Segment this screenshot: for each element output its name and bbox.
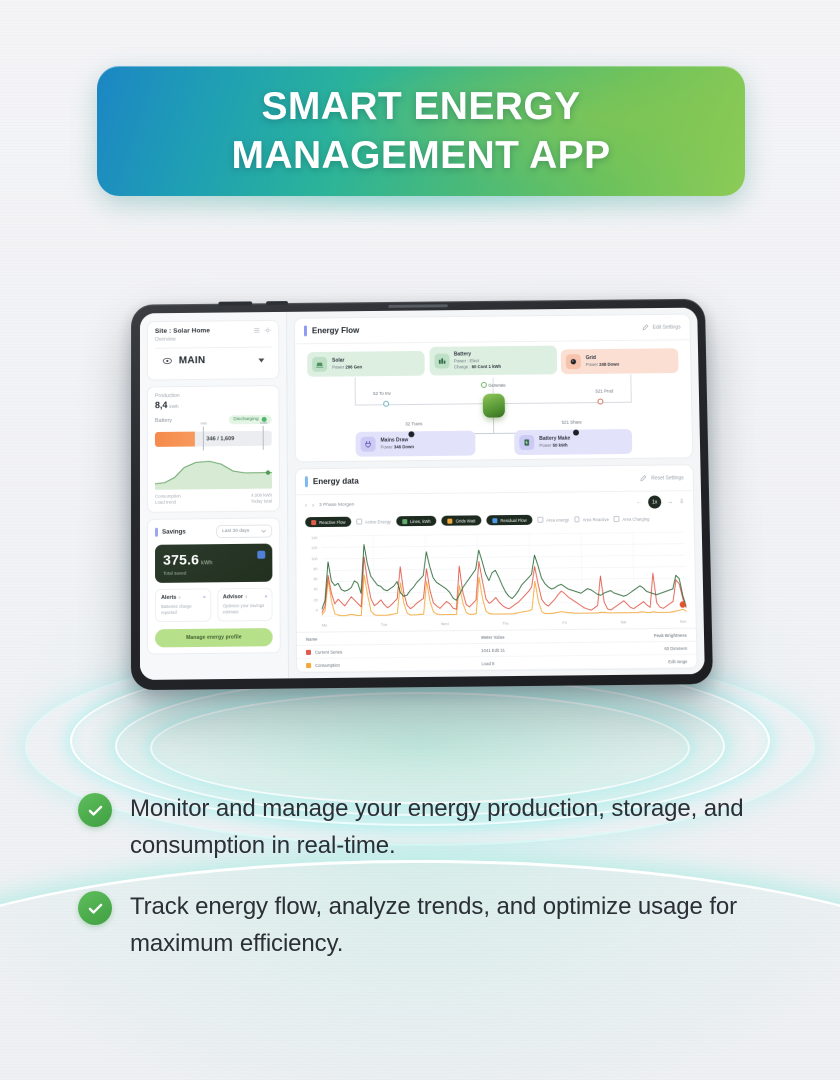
- legend-row-extra: 60 Dimmers: [611, 645, 687, 651]
- advisor-title: Advisor: [223, 594, 243, 600]
- edge-dot-right-icon: [597, 399, 603, 405]
- chip-swatch-icon: [448, 518, 453, 523]
- date-range-select[interactable]: Last 30 days: [216, 525, 272, 539]
- y-tick: 140: [305, 536, 317, 540]
- x-tick: Thu: [502, 622, 509, 626]
- grid-node-text: Grid Power 248 Down: [586, 355, 620, 368]
- front-camera: [388, 304, 448, 308]
- volume-down-button[interactable]: [266, 301, 288, 305]
- ev-node-text: Battery Make Power 50 kWh: [539, 436, 570, 449]
- edge-label-left-bottom: 32 Trans: [405, 421, 422, 426]
- chip-swatch-icon: [311, 520, 316, 525]
- chart-y-axis: 140 120 100 80 60 40 20 0: [305, 535, 318, 622]
- chart-plot-area: [321, 531, 686, 621]
- banner-surface: SMART ENERGY MANAGEMENT APP: [97, 66, 745, 196]
- x-tick: Fri: [562, 621, 567, 625]
- advisor-count: 3: [245, 594, 247, 599]
- legend-row-value: Load 8: [481, 659, 611, 665]
- app-sidebar: Site : Solar Home Overview MAIN P: [140, 312, 289, 680]
- manage-energy-profile-button[interactable]: Manage energy profile: [155, 628, 273, 647]
- production-card: Production 8,4kWh Battery Discharging mi…: [147, 385, 280, 513]
- checkbox-icon: [614, 516, 620, 522]
- energy-data-title-wrap: Energy data: [305, 476, 359, 488]
- savings-sub: Total saved: [163, 570, 264, 576]
- flow-node-solar[interactable]: Solar Power 206 Gen: [307, 351, 425, 377]
- site-card[interactable]: Site : Solar Home Overview MAIN: [147, 320, 279, 381]
- solar-sub-label: Power: [332, 365, 344, 370]
- x-tick: Sun: [680, 620, 687, 624]
- edit-settings-button[interactable]: Edit Settings: [642, 324, 681, 331]
- savings-card: Savings Last 30 days 375.6kWh Total save…: [147, 517, 281, 654]
- gauge-max-label: max: [260, 420, 268, 425]
- alerts-card[interactable]: Alerts0 « Batteries charge reported: [155, 588, 211, 622]
- home-sub-label: Power: [381, 444, 393, 449]
- check-circle-icon: [78, 793, 112, 827]
- date-range-value: Last 30 days: [222, 529, 249, 534]
- chevron-down-icon: [258, 358, 264, 362]
- chart-nav-left: ‹ › 3 Phase Morgen: [305, 502, 354, 509]
- plug-icon: [361, 437, 376, 452]
- savings-title: Savings: [162, 528, 186, 535]
- list-item: Track energy flow, analyze trends, and o…: [78, 888, 768, 962]
- banner-title-line-2: MANAGEMENT APP: [232, 131, 611, 180]
- feature-text: Monitor and manage your energy productio…: [130, 790, 768, 864]
- prev-icon[interactable]: ‹: [305, 503, 307, 509]
- line-chart[interactable]: 140 120 100 80 60 40 20 0: [296, 529, 696, 630]
- grid-icon: [566, 354, 581, 369]
- energy-data-panel: Energy data Reset Settings ‹ › 3 Phase M…: [295, 464, 698, 673]
- list-item: Monitor and manage your energy productio…: [78, 790, 768, 864]
- savings-number: 375.6: [163, 551, 199, 567]
- sparkline-chart: [155, 455, 272, 490]
- tablet-screen: Site : Solar Home Overview MAIN P: [140, 308, 705, 680]
- legend-row-value: 1041 Edit 31: [481, 646, 611, 652]
- reset-settings-label: Reset Settings: [651, 475, 684, 481]
- volume-up-button[interactable]: [218, 301, 252, 305]
- chip-swatch-icon: [402, 519, 407, 524]
- chip-label: Grids Watt: [456, 518, 476, 523]
- spark-right-line-2: Today total: [251, 499, 272, 505]
- battery-status-label: Battery: [155, 417, 172, 423]
- menu-icon[interactable]: [253, 327, 260, 334]
- chip-residual-flow[interactable]: Residual Flow: [486, 515, 532, 525]
- main-menu-label: MAIN: [179, 355, 253, 367]
- kpi-value: 8,4kWh: [155, 399, 272, 410]
- energy-flow-title-wrap: Energy Flow: [304, 325, 359, 336]
- expand-icon[interactable]: «: [203, 594, 205, 600]
- total-savings-card: 375.6kWh Total saved: [155, 544, 272, 583]
- legend-row-name: Consumption: [315, 662, 340, 667]
- ev-sub-label: Power: [539, 443, 551, 448]
- grid-sub-value: 248 Down: [599, 362, 619, 367]
- sparkline-footer: Consumption Load trend 4,008 kWh Today t…: [155, 493, 272, 506]
- y-tick: 40: [306, 588, 318, 592]
- kpi-number: 8,4: [155, 400, 167, 410]
- alerts-title-wrap: Alerts0: [161, 595, 181, 601]
- y-tick: 20: [306, 598, 318, 602]
- site-label: Site : Solar Home: [155, 327, 210, 334]
- spark-left-line-2: Load trend: [155, 499, 181, 505]
- chart-legend-table: Name Meter Value Peak Brightness Current…: [297, 628, 697, 673]
- chip-area-energy[interactable]: Area energy: [538, 517, 569, 523]
- energy-flow-panel: Energy Flow Edit Settings: [294, 314, 693, 463]
- checkbox-icon: [538, 517, 544, 523]
- chip-label: Lines, kWh: [410, 518, 431, 523]
- alerts-body: Batteries charge reported: [161, 604, 205, 617]
- download-icon[interactable]: ⇩: [679, 498, 684, 505]
- advisor-title-wrap: Advisor3: [223, 594, 247, 600]
- alerts-title: Alerts: [161, 595, 176, 601]
- charger-icon: [519, 435, 534, 450]
- banner-title-line-1: SMART ENERGY: [262, 82, 581, 131]
- kpi-label: Production: [155, 392, 272, 399]
- grid-sub-label: Power: [586, 362, 598, 367]
- edit-settings-label: Edit Settings: [653, 324, 681, 330]
- advisor-body: Optimize your savings estimate: [223, 603, 267, 616]
- main-menu-selector[interactable]: MAIN: [155, 347, 271, 374]
- mini-cards: Alerts0 « Batteries charge reported Advi…: [155, 588, 273, 622]
- x-tick: Tue: [381, 623, 387, 627]
- chip-label: Reactive Flow: [319, 519, 345, 524]
- pencil-icon: [642, 324, 649, 331]
- next-icon[interactable]: ›: [312, 503, 314, 509]
- gauge-tick-max: [262, 426, 263, 450]
- accent-bar-icon: [304, 325, 307, 336]
- check-circle-icon: [78, 891, 112, 925]
- chip-lines-kwh[interactable]: Lines, kWh: [396, 516, 437, 526]
- battery-icon: [434, 354, 449, 369]
- x-tick: Sat: [620, 620, 626, 624]
- y-tick: 120: [305, 546, 317, 550]
- accent-bar-icon: [305, 476, 308, 487]
- zoom-level-button[interactable]: 1x: [648, 495, 661, 508]
- page-title: Energy Flow: [312, 326, 359, 335]
- edge-label-right-bottom: 521 Share: [562, 420, 582, 425]
- app-main-content: Energy Flow Edit Settings: [287, 308, 705, 679]
- solar-panel-icon: [312, 357, 327, 372]
- battery-sub-2: Charge :: [454, 364, 470, 369]
- solar-sub-value: 206 Gen: [345, 364, 362, 369]
- expand-icon[interactable]: «: [265, 594, 267, 600]
- flow-dot-right-icon: [573, 430, 579, 436]
- hub-dot-icon: [480, 382, 486, 388]
- glow-ring-3: [150, 692, 690, 804]
- chip-active-energy[interactable]: Active Energy: [357, 519, 391, 525]
- chip-label: Area Charging: [622, 516, 649, 521]
- y-tick: 80: [305, 567, 317, 571]
- savings-unit: kWh: [201, 560, 212, 566]
- chip-label: Active Energy: [365, 519, 391, 524]
- edge-dot-left-icon: [383, 401, 389, 407]
- y-tick: 60: [306, 577, 318, 581]
- hub-label: Generate: [480, 382, 505, 388]
- checkbox-icon: [574, 517, 580, 523]
- poster: SMART ENERGY MANAGEMENT APP Site : Solar…: [0, 0, 840, 1080]
- tablet-device: Site : Solar Home Overview MAIN P: [131, 299, 713, 691]
- legend-header-name: Name: [306, 636, 318, 641]
- chip-label: Area energy: [546, 517, 569, 522]
- title-banner: SMART ENERGY MANAGEMENT APP: [97, 66, 745, 196]
- chart-nav-label: 3 Phase Morgen: [319, 503, 354, 508]
- chart-nav-right: ← 1x → ⇩: [636, 495, 684, 508]
- home-node-text: Mains Draw Power 346 Down: [380, 437, 414, 450]
- gear-icon[interactable]: [264, 327, 271, 334]
- reset-settings-button[interactable]: Reset Settings: [640, 474, 684, 481]
- chip-label: Residual Flow: [500, 517, 526, 522]
- flow-dot-left-icon: [408, 431, 414, 437]
- flow-hub-node[interactable]: [482, 394, 504, 418]
- x-tick: Wed: [441, 622, 449, 626]
- feature-text: Track energy flow, analyze trends, and o…: [130, 888, 768, 962]
- flow-node-battery[interactable]: Battery Power : Elect Charge : 60 Cont 1…: [429, 346, 557, 376]
- pencil-icon: [640, 475, 647, 482]
- gauge-min-label: min: [200, 421, 206, 426]
- pan-left-icon[interactable]: ←: [636, 499, 642, 505]
- checkbox-icon: [357, 519, 363, 525]
- pan-right-icon[interactable]: →: [667, 499, 673, 505]
- battery-node-text: Battery Power : Elect Charge : 60 Cont 1…: [454, 351, 501, 370]
- info-badge-icon[interactable]: [257, 551, 265, 559]
- energy-flow-diagram: Solar Power 206 Gen Battery Power : Elec…: [295, 340, 692, 461]
- status-badge-text: Discharging: [233, 417, 258, 422]
- chip-area-charging[interactable]: Area Charging: [614, 516, 650, 522]
- feature-list: Monitor and manage your energy productio…: [78, 790, 768, 962]
- y-tick: 100: [305, 557, 317, 561]
- x-tick: Mo: [322, 623, 327, 627]
- kpi-unit: kWh: [169, 404, 178, 409]
- home-sub-value: 346 Down: [394, 444, 414, 449]
- flow-node-home[interactable]: Mains Draw Power 346 Down: [356, 431, 476, 457]
- savings-title-wrap: Savings: [155, 527, 186, 536]
- legend-swatch-icon: [306, 662, 311, 667]
- chip-swatch-icon: [492, 518, 497, 523]
- legend-swatch-icon: [306, 649, 311, 654]
- battery-status-row: Battery Discharging: [155, 415, 272, 425]
- gauge-tick-min: [203, 427, 204, 451]
- savings-value: 375.6kWh: [163, 551, 264, 568]
- chip-area-reactive[interactable]: Area Reactive: [574, 516, 609, 522]
- legend-header-value: Meter Value: [481, 633, 611, 639]
- site-sub: Overview: [155, 336, 271, 343]
- legend-row-name: Current Series: [315, 649, 342, 654]
- battery-sub-value: 60 Cont 1 kWh: [472, 364, 502, 369]
- chip-grids-watt[interactable]: Grids Watt: [442, 515, 482, 525]
- legend-row-extra: Edit range: [611, 659, 687, 665]
- gauge-value: 346 / 1,609: [206, 436, 234, 442]
- edge-label-left-top: 52 To Inv: [373, 391, 391, 396]
- chip-reactive-flow[interactable]: Reactive Flow: [305, 517, 351, 527]
- edge-label-right-top: 521 Prod: [595, 389, 613, 394]
- savings-header: Savings Last 30 days: [155, 525, 272, 539]
- flow-node-grid[interactable]: Grid Power 248 Down: [561, 348, 679, 374]
- accent-bar-icon: [155, 528, 158, 537]
- ev-sub-value: 50 kWh: [553, 443, 568, 448]
- table-row[interactable]: Consumption Load 8 Edit range: [297, 655, 697, 672]
- gauge-fill: [155, 432, 195, 447]
- y-tick: 0: [306, 608, 318, 612]
- advisor-card[interactable]: Advisor3 « Optimize your savings estimat…: [217, 588, 273, 622]
- battery-gauge[interactable]: min max 346 / 1,609: [155, 431, 272, 447]
- energy-data-title: Energy data: [313, 477, 359, 486]
- solar-node-text: Solar Power 206 Gen: [332, 357, 362, 370]
- chip-label: Area Reactive: [583, 517, 609, 522]
- eye-icon: [162, 355, 173, 366]
- alerts-count: 0: [178, 595, 180, 600]
- legend-header-extra: Peak Brightness: [611, 632, 687, 638]
- hub-label-text: Generate: [488, 382, 505, 387]
- chevron-down-icon: [261, 529, 266, 534]
